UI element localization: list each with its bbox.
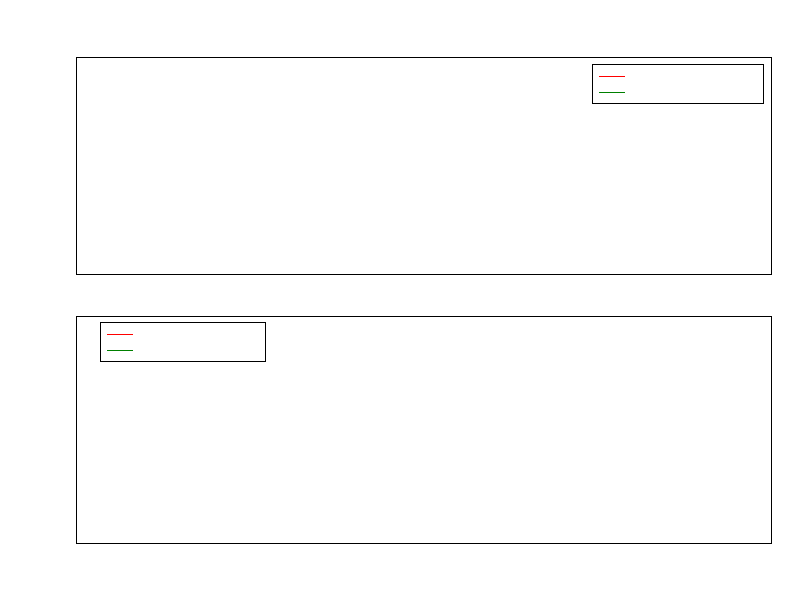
bottom-panel	[0, 0, 800, 600]
legend-item	[105, 342, 260, 358]
bottom-panel-legend	[100, 322, 266, 362]
spectrum-figure	[0, 0, 800, 600]
legend-line-swatch	[107, 334, 133, 335]
legend-item	[105, 326, 260, 342]
legend-line-swatch	[107, 350, 133, 351]
